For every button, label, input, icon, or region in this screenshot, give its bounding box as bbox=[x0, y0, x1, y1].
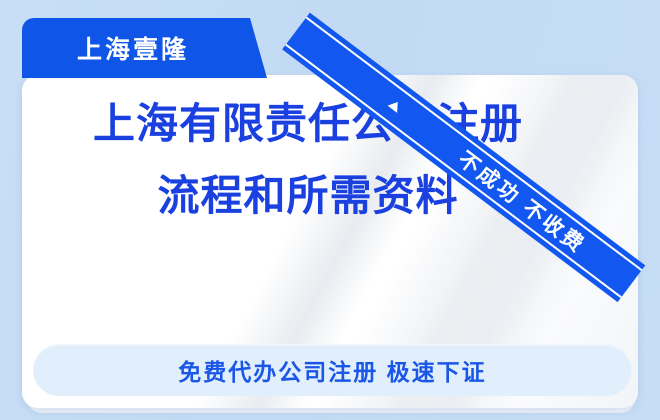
page-title: 上海有限责任公司注册 流程和所需资料 bbox=[0, 88, 616, 232]
brand-tab-label: 上海壹隆 bbox=[22, 18, 244, 78]
page-title-line-2: 流程和所需资料 bbox=[0, 160, 616, 232]
footer-banner[interactable]: 免费代办公司注册 极速下证 bbox=[33, 344, 632, 396]
footer-banner-label: 免费代办公司注册 极速下证 bbox=[178, 353, 486, 387]
brand-tab[interactable]: 上海壹隆 bbox=[22, 18, 267, 78]
promo-poster: 上海壹隆 上海有限责任公司注册 流程和所需资料 免费代办公司注册 极速下证 不成… bbox=[0, 0, 660, 420]
page-title-line-1: 上海有限责任公司注册 bbox=[93, 100, 523, 147]
